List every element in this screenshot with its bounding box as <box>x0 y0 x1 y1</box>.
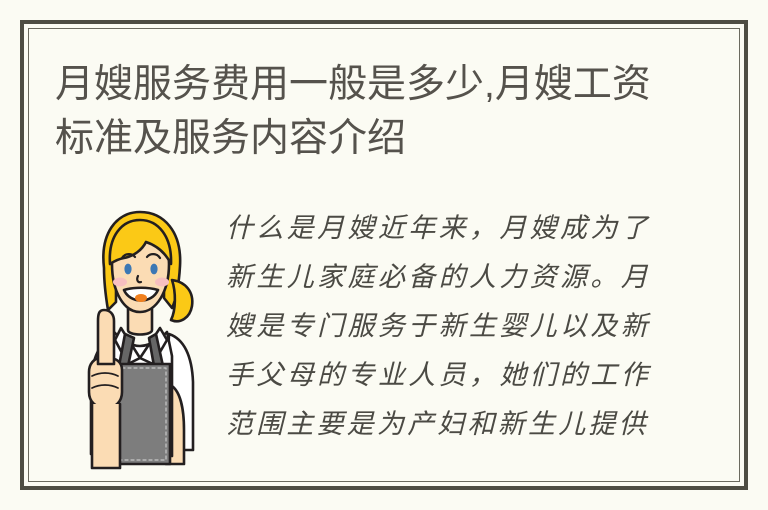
left-fist <box>89 358 122 408</box>
tongue <box>135 294 147 302</box>
blush-right <box>155 278 169 287</box>
article-card: 月嫂服务费用一般是多少,月嫂工资标准及服务内容介绍 <box>0 0 768 510</box>
eye-left <box>124 264 131 275</box>
article-body-area: 什么是月嫂近年来，月嫂成为了新生儿家庭必备的人力资源。月嫂是专门服务于新生婴儿以… <box>28 196 740 482</box>
left-forearm <box>92 404 120 468</box>
eye-right <box>150 264 157 275</box>
index-finger <box>98 310 114 364</box>
nanny-illustration-svg <box>68 206 213 474</box>
nanny-illustration <box>68 206 213 474</box>
card-content: 月嫂服务费用一般是多少,月嫂工资标准及服务内容介绍 <box>28 28 740 482</box>
ponytail <box>171 280 192 321</box>
article-title: 月嫂服务费用一般是多少,月嫂工资标准及服务内容介绍 <box>55 58 675 166</box>
article-body-text: 什么是月嫂近年来，月嫂成为了新生儿家庭必备的人力资源。月嫂是专门服务于新生婴儿以… <box>226 204 651 449</box>
blush-left <box>113 278 127 287</box>
